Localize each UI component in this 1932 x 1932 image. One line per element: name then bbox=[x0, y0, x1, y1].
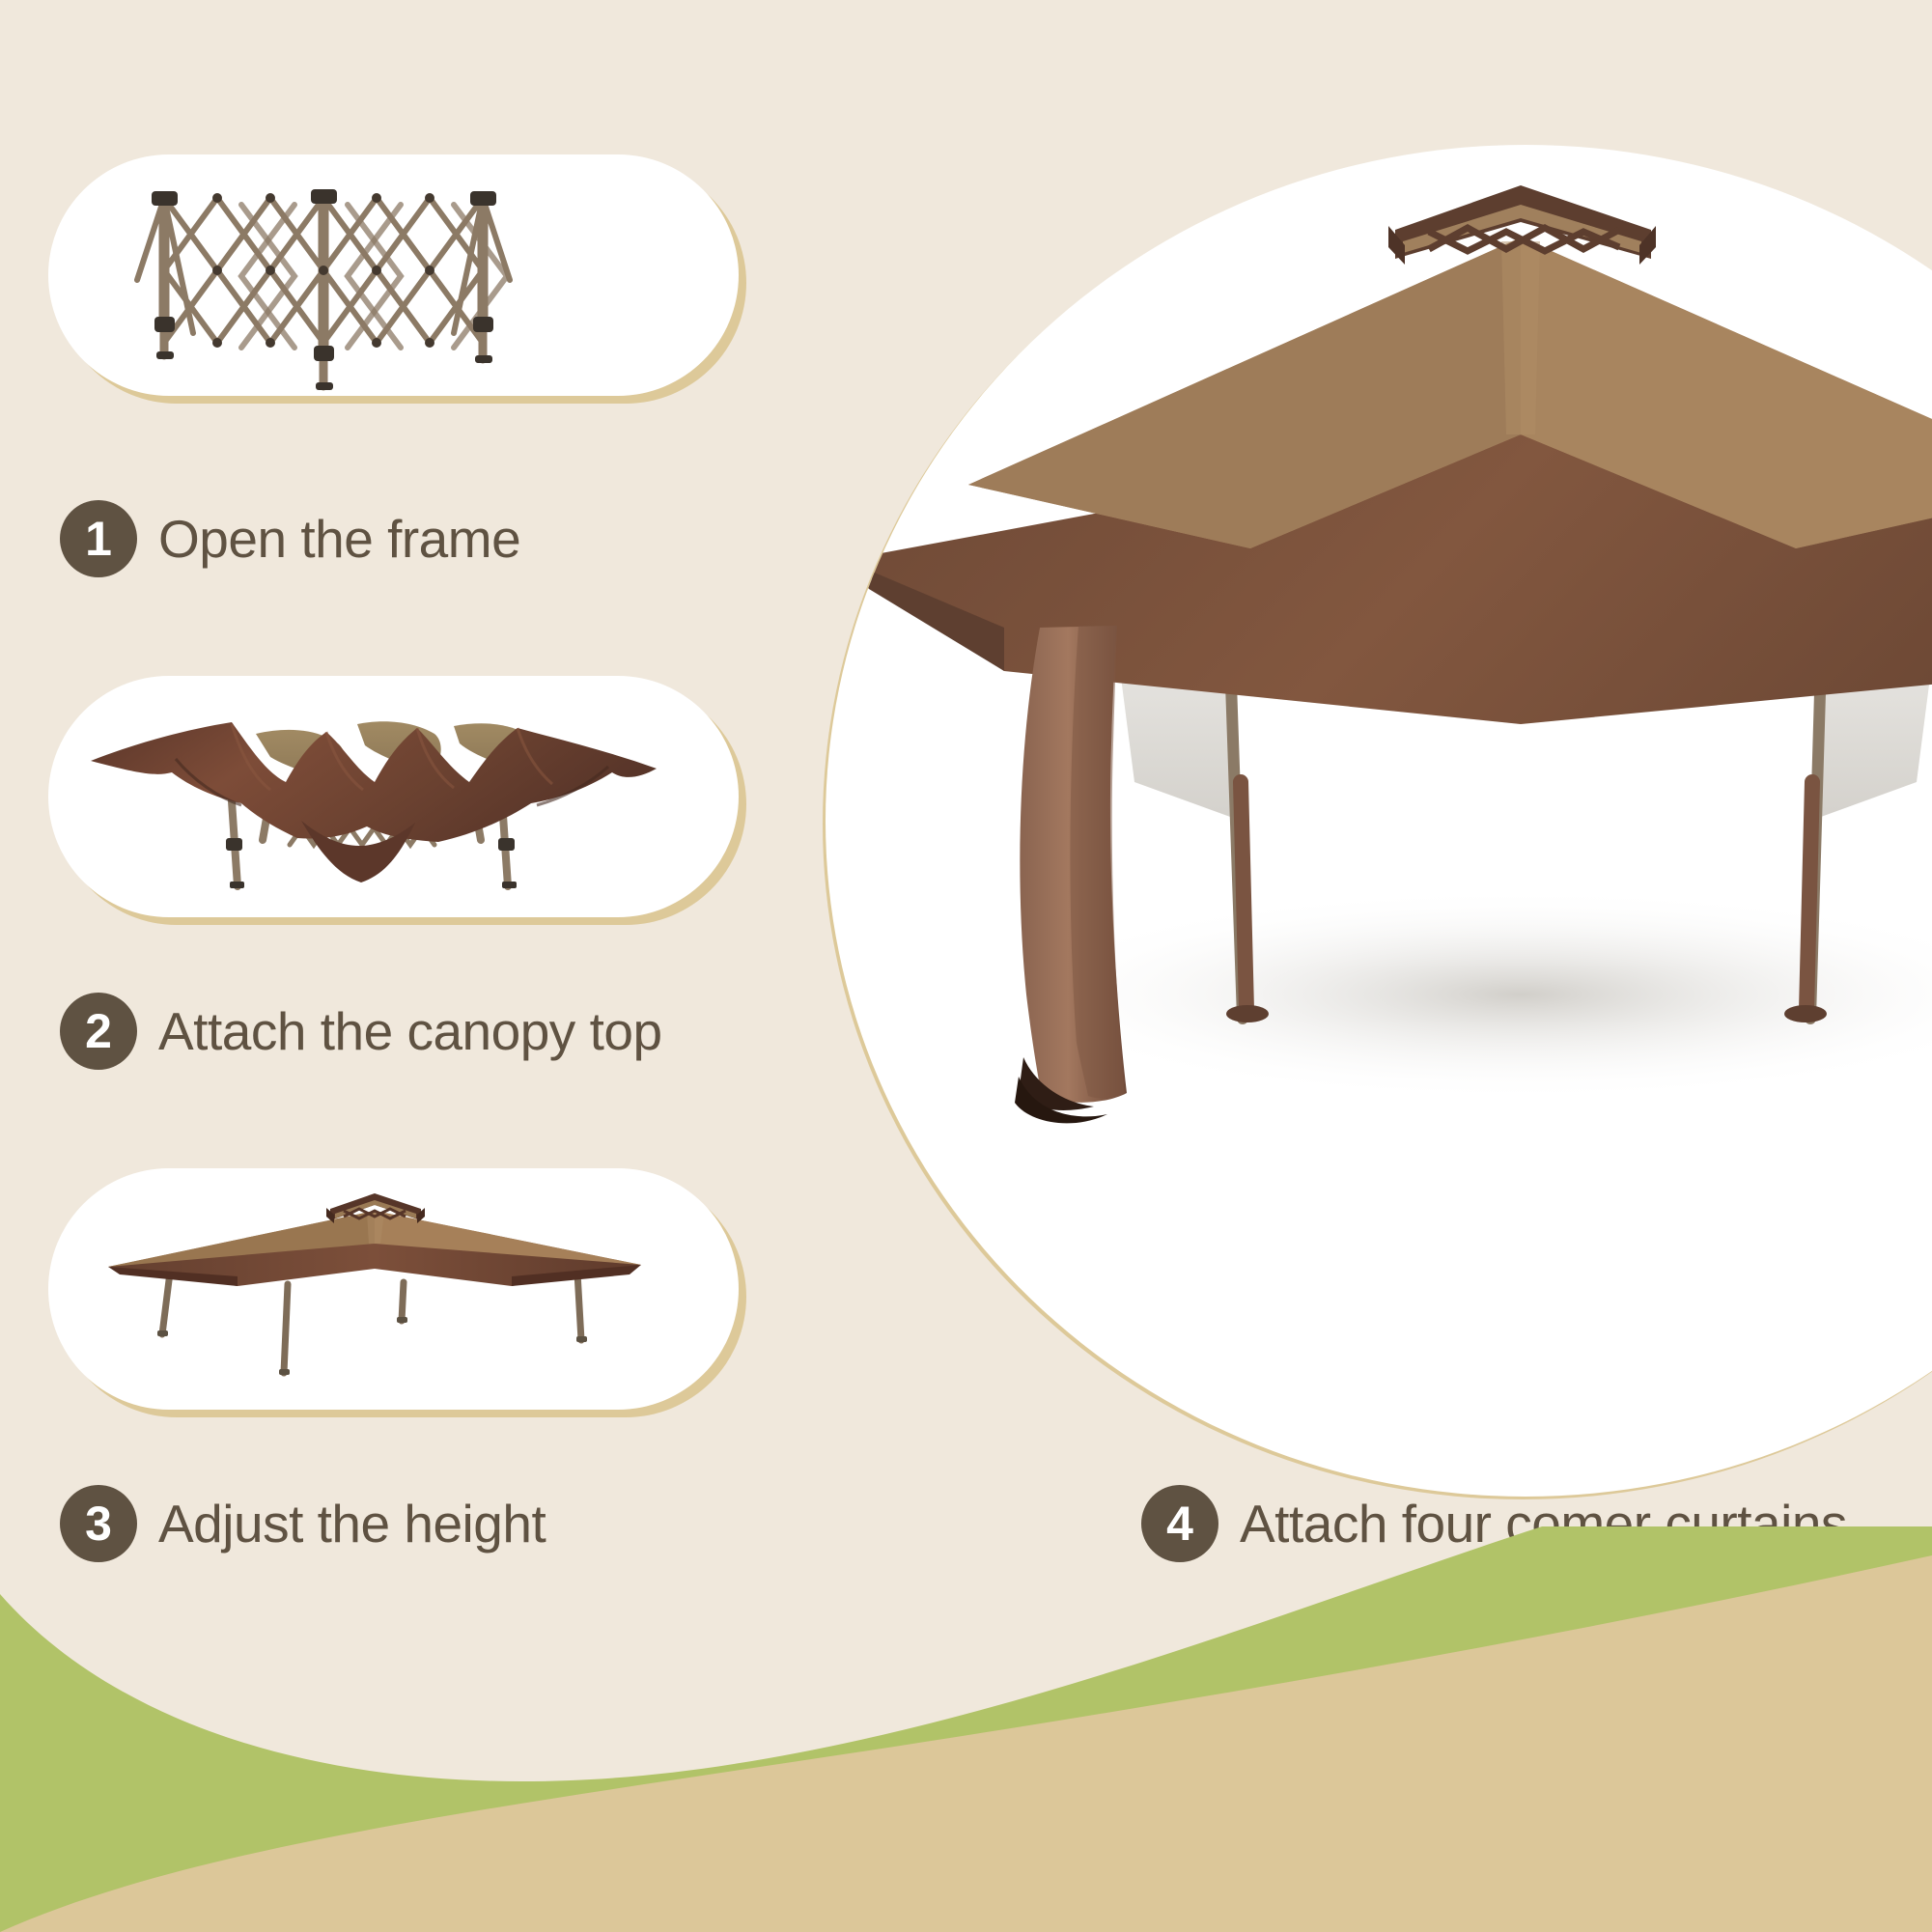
step-2-caption: 2 Attach the canopy top bbox=[60, 993, 662, 1070]
step-3-label: Adjust the height bbox=[158, 1493, 546, 1554]
step-3-caption: 3 Adjust the height bbox=[60, 1485, 546, 1562]
step-2-number-badge: 2 bbox=[60, 993, 137, 1070]
step-1-illustration-folded-frame bbox=[48, 154, 739, 396]
step-2-illustration-canopy-draped bbox=[48, 676, 739, 917]
step-3-illustration-assembled-canopy bbox=[48, 1168, 739, 1410]
step-4-number-badge: 4 bbox=[1141, 1485, 1218, 1562]
step-3-number-badge: 3 bbox=[60, 1485, 137, 1562]
instruction-infographic: 1 Open the frame bbox=[0, 0, 1932, 1932]
wave-tan bbox=[0, 1555, 1932, 1932]
step-1-caption: 1 Open the frame bbox=[60, 500, 520, 577]
bottom-wave-decoration bbox=[0, 1526, 1932, 1932]
hero-image-gazebo-with-curtains bbox=[826, 145, 1932, 1497]
step-1-label: Open the frame bbox=[158, 508, 520, 570]
step-2-label: Attach the canopy top bbox=[158, 1000, 662, 1062]
wave-green bbox=[0, 1526, 1932, 1932]
step-4-caption: 4 Attach four comer curtains bbox=[1141, 1485, 1847, 1562]
step-1-number-badge: 1 bbox=[60, 500, 137, 577]
step-4-label: Attach four comer curtains bbox=[1240, 1493, 1847, 1554]
